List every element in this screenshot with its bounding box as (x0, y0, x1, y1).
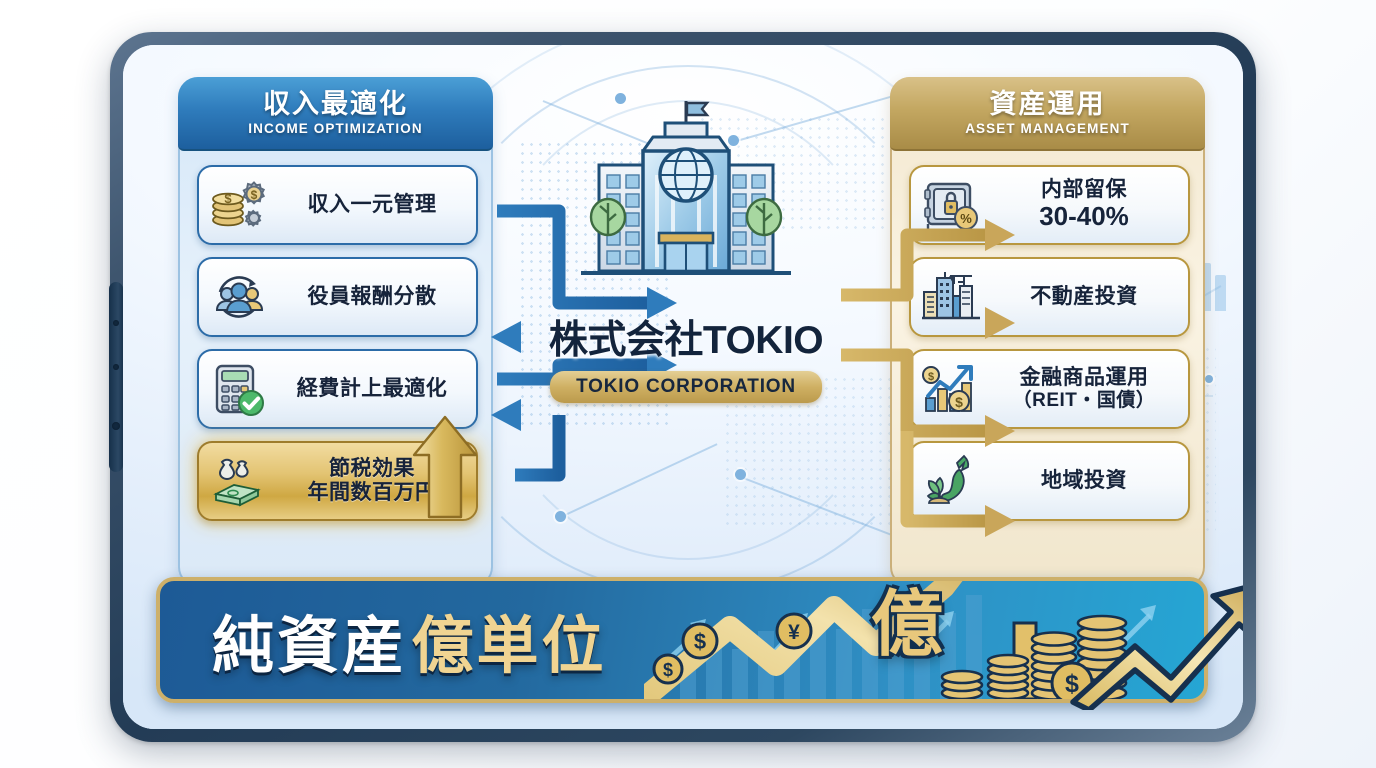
right-panel-title-en: ASSET MANAGEMENT (965, 121, 1130, 136)
tablet-screen: 収入最適化 INCOME OPTIMIZATION (123, 45, 1243, 729)
card-label: 経費計上最適化 (278, 377, 466, 401)
big-gold-growth-arrow-icon (1063, 550, 1243, 710)
svg-text:$: $ (663, 660, 673, 680)
network-node (735, 469, 746, 480)
center-company-block: 株式会社TOKIO TOKIO CORPORATION (521, 85, 851, 403)
network-node (555, 511, 566, 522)
banner-overlay-char: 億 (871, 565, 943, 670)
left-card-list: $ $ (197, 165, 478, 521)
company-name-en: TOKIO CORPORATION (550, 371, 822, 403)
card-label: 役員報酬分散 (278, 285, 466, 309)
gold-up-arrow-icon (408, 413, 482, 525)
svg-text:¥: ¥ (788, 621, 800, 644)
banner-text-block: 純資産 億単位 (160, 595, 606, 685)
corporate-building-globe-icon (561, 97, 811, 307)
right-panel-title-jp: 資産運用 (990, 90, 1106, 118)
people-cycle-icon (208, 266, 270, 328)
left-panel-title-jp: 収入最適化 (263, 90, 408, 118)
card-income-unified-management[interactable]: $ $ (197, 165, 478, 245)
arrow-center-to-right-group (841, 185, 1081, 555)
card-executive-compensation-distribution[interactable]: 役員報酬分散 (197, 257, 478, 337)
cash-bundle-icon (208, 450, 270, 512)
svg-text:$: $ (224, 191, 232, 206)
net-assets-banner: $ $ ¥ (156, 577, 1208, 703)
left-panel-title-en: INCOME OPTIMIZATION (248, 121, 422, 136)
background-bar-chart (1215, 275, 1226, 311)
calculator-check-icon (208, 358, 270, 420)
tablet-sensor-dot (112, 422, 120, 430)
tablet-device-frame: 収入最適化 INCOME OPTIMIZATION (110, 32, 1256, 742)
screen-background: 収入最適化 INCOME OPTIMIZATION (123, 45, 1243, 729)
svg-text:$: $ (694, 629, 706, 654)
card-tax-saving-effect[interactable]: 節税効果 年間数百万円 (197, 441, 478, 521)
tablet-speaker-dot (113, 320, 119, 326)
network-node (1205, 375, 1213, 383)
left-panel-header: 収入最適化 INCOME OPTIMIZATION (178, 77, 493, 151)
tablet-camera-dot (113, 364, 119, 370)
right-panel-header: 資産運用 ASSET MANAGEMENT (890, 77, 1205, 151)
banner-text-gold: 億単位 (411, 612, 606, 681)
svg-text:$: $ (251, 188, 258, 202)
card-label: 収入一元管理 (278, 193, 466, 217)
income-optimization-panel: 収入最適化 INCOME OPTIMIZATION (178, 77, 493, 587)
tablet-side-button[interactable] (109, 282, 123, 472)
company-name-jp: 株式会社TOKIO (521, 309, 851, 365)
infographic-canvas: 収入最適化 INCOME OPTIMIZATION (0, 0, 1376, 768)
coins-gears-icon: $ $ (208, 174, 270, 236)
banner-text-white: 純資産 (212, 612, 407, 681)
